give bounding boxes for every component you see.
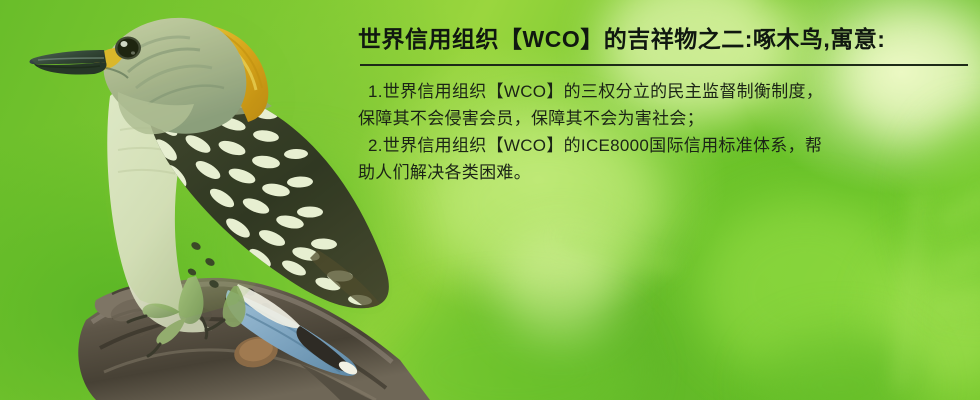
title-divider	[360, 64, 968, 66]
list-item-line-2: 保障其不会侵害会员，保障其不会为害社会；	[352, 105, 972, 132]
page-title: 世界信用组织【WCO】的吉祥物之二:啄木鸟,寓意:	[352, 24, 972, 54]
list-item: 1.世界信用组织【WCO】的三权分立的民主监督制衡制度， 保障其不会侵害会员，保…	[352, 78, 972, 132]
list-item-line-1: 1.世界信用组织【WCO】的三权分立的民主监督制衡制度，	[352, 78, 972, 105]
text-panel: 世界信用组织【WCO】的吉祥物之二:啄木鸟,寓意: 1.世界信用组织【WCO】的…	[352, 24, 972, 186]
list-item-line-2: 助人们解决各类困难。	[352, 159, 972, 186]
mascot-meaning-list: 1.世界信用组织【WCO】的三权分立的民主监督制衡制度， 保障其不会侵害会员，保…	[352, 78, 972, 186]
list-item-line-1: 2.世界信用组织【WCO】的ICE8000国际信用标准体系，帮	[352, 132, 972, 159]
list-item: 2.世界信用组织【WCO】的ICE8000国际信用标准体系，帮 助人们解决各类困…	[352, 132, 972, 186]
wco-mascot-banner: 世界信用组织【WCO】的吉祥物之二:啄木鸟,寓意: 1.世界信用组织【WCO】的…	[0, 0, 980, 400]
